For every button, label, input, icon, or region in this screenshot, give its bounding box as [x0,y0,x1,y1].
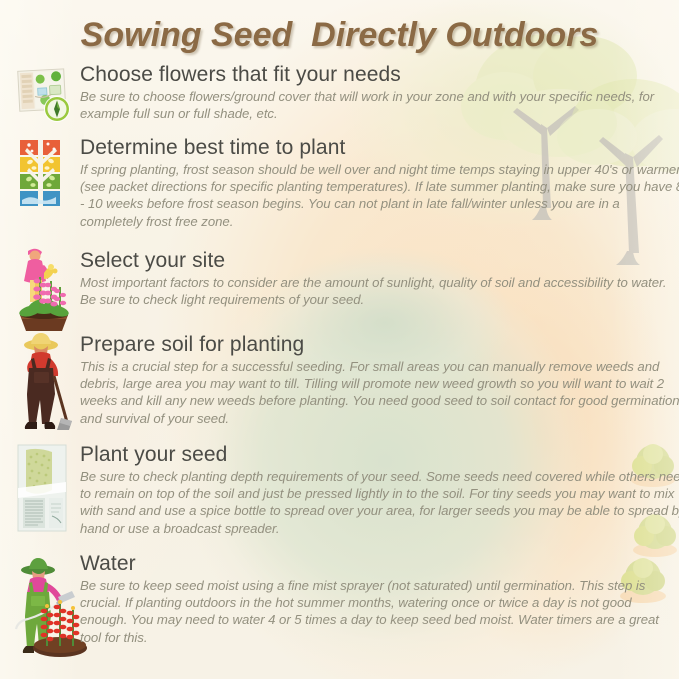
step-title: Water [80,552,679,576]
step-text: If spring planting, frost season should … [80,161,679,230]
step-title: Select your site [80,249,670,273]
step-title: Plant your seed [80,443,679,467]
step-body: Select your site Most important factors … [80,249,670,308]
step-text: Most important factors to consider are t… [80,274,670,308]
step-title: Determine best time to plant [80,136,679,160]
garden-plan-compass-icon [14,64,72,131]
step-body: Water Be sure to keep seed moist using a… [80,552,679,646]
step-text: Be sure to check planting depth requirem… [80,468,679,537]
farmer-with-shovel-icon [14,330,72,435]
page-title: Sowing Seed Directly Outdoors [0,16,679,55]
step-title: Prepare soil for planting [80,333,679,357]
infographic-poster: Sowing Seed Directly Outdoors [0,0,679,679]
step-text: Be sure to choose flowers/ground cover t… [80,88,679,122]
gardener-watering-plants-icon [14,552,88,665]
gardener-with-flower-planter-icon [14,243,74,338]
step-text: This is a crucial step for a successful … [80,358,679,427]
step-body: Prepare soil for planting This is a cruc… [80,333,679,427]
step-body: Choose flowers that fit your needs Be su… [80,63,679,122]
step-text: Be sure to keep seed moist using a fine … [80,577,679,646]
step-body: Determine best time to plant If spring p… [80,136,679,230]
steps-list: Choose flowers that fit your needs Be su… [0,0,679,679]
seed-packet-icon [14,442,72,539]
step-body: Plant your seed Be sure to check plantin… [80,443,679,537]
four-seasons-icon [14,138,66,215]
step-title: Choose flowers that fit your needs [80,63,679,87]
